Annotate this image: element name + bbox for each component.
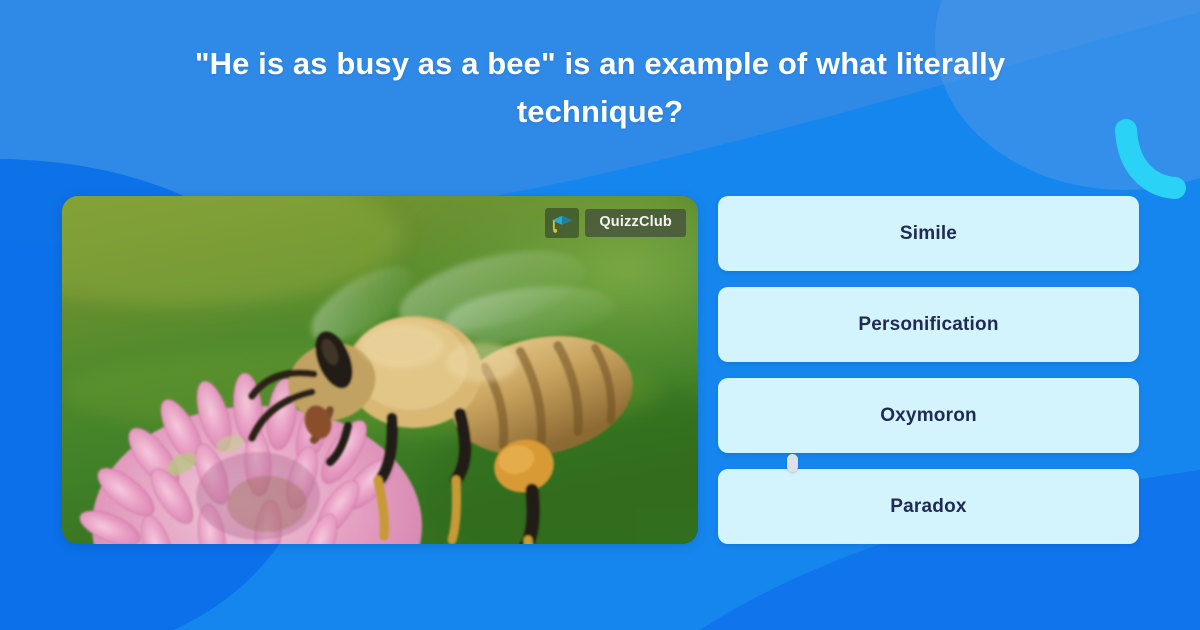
bee-flower-photo [62,196,698,544]
quiz-card: "He is as busy as a bee" is an example o… [0,0,1200,630]
question-image-card: QuizzClub [62,196,698,544]
answer-option-2[interactable]: Personification [718,287,1139,362]
bee-flower-illustration [62,196,698,544]
graduation-cap-icon [545,208,579,238]
question-container: "He is as busy as a bee" is an example o… [120,40,1080,136]
watermark-label: QuizzClub [585,209,686,237]
answer-option-3[interactable]: Oxymoron [718,378,1139,453]
question-title: "He is as busy as a bee" is an example o… [120,40,1080,136]
answer-option-1[interactable]: Simile [718,196,1139,271]
answer-option-4[interactable]: Paradox [718,469,1139,544]
answer-options-list: Simile Personification Oxymoron Paradox [718,196,1139,560]
scroll-indicator-nub[interactable] [787,454,798,472]
watermark-badge: QuizzClub [545,208,686,238]
